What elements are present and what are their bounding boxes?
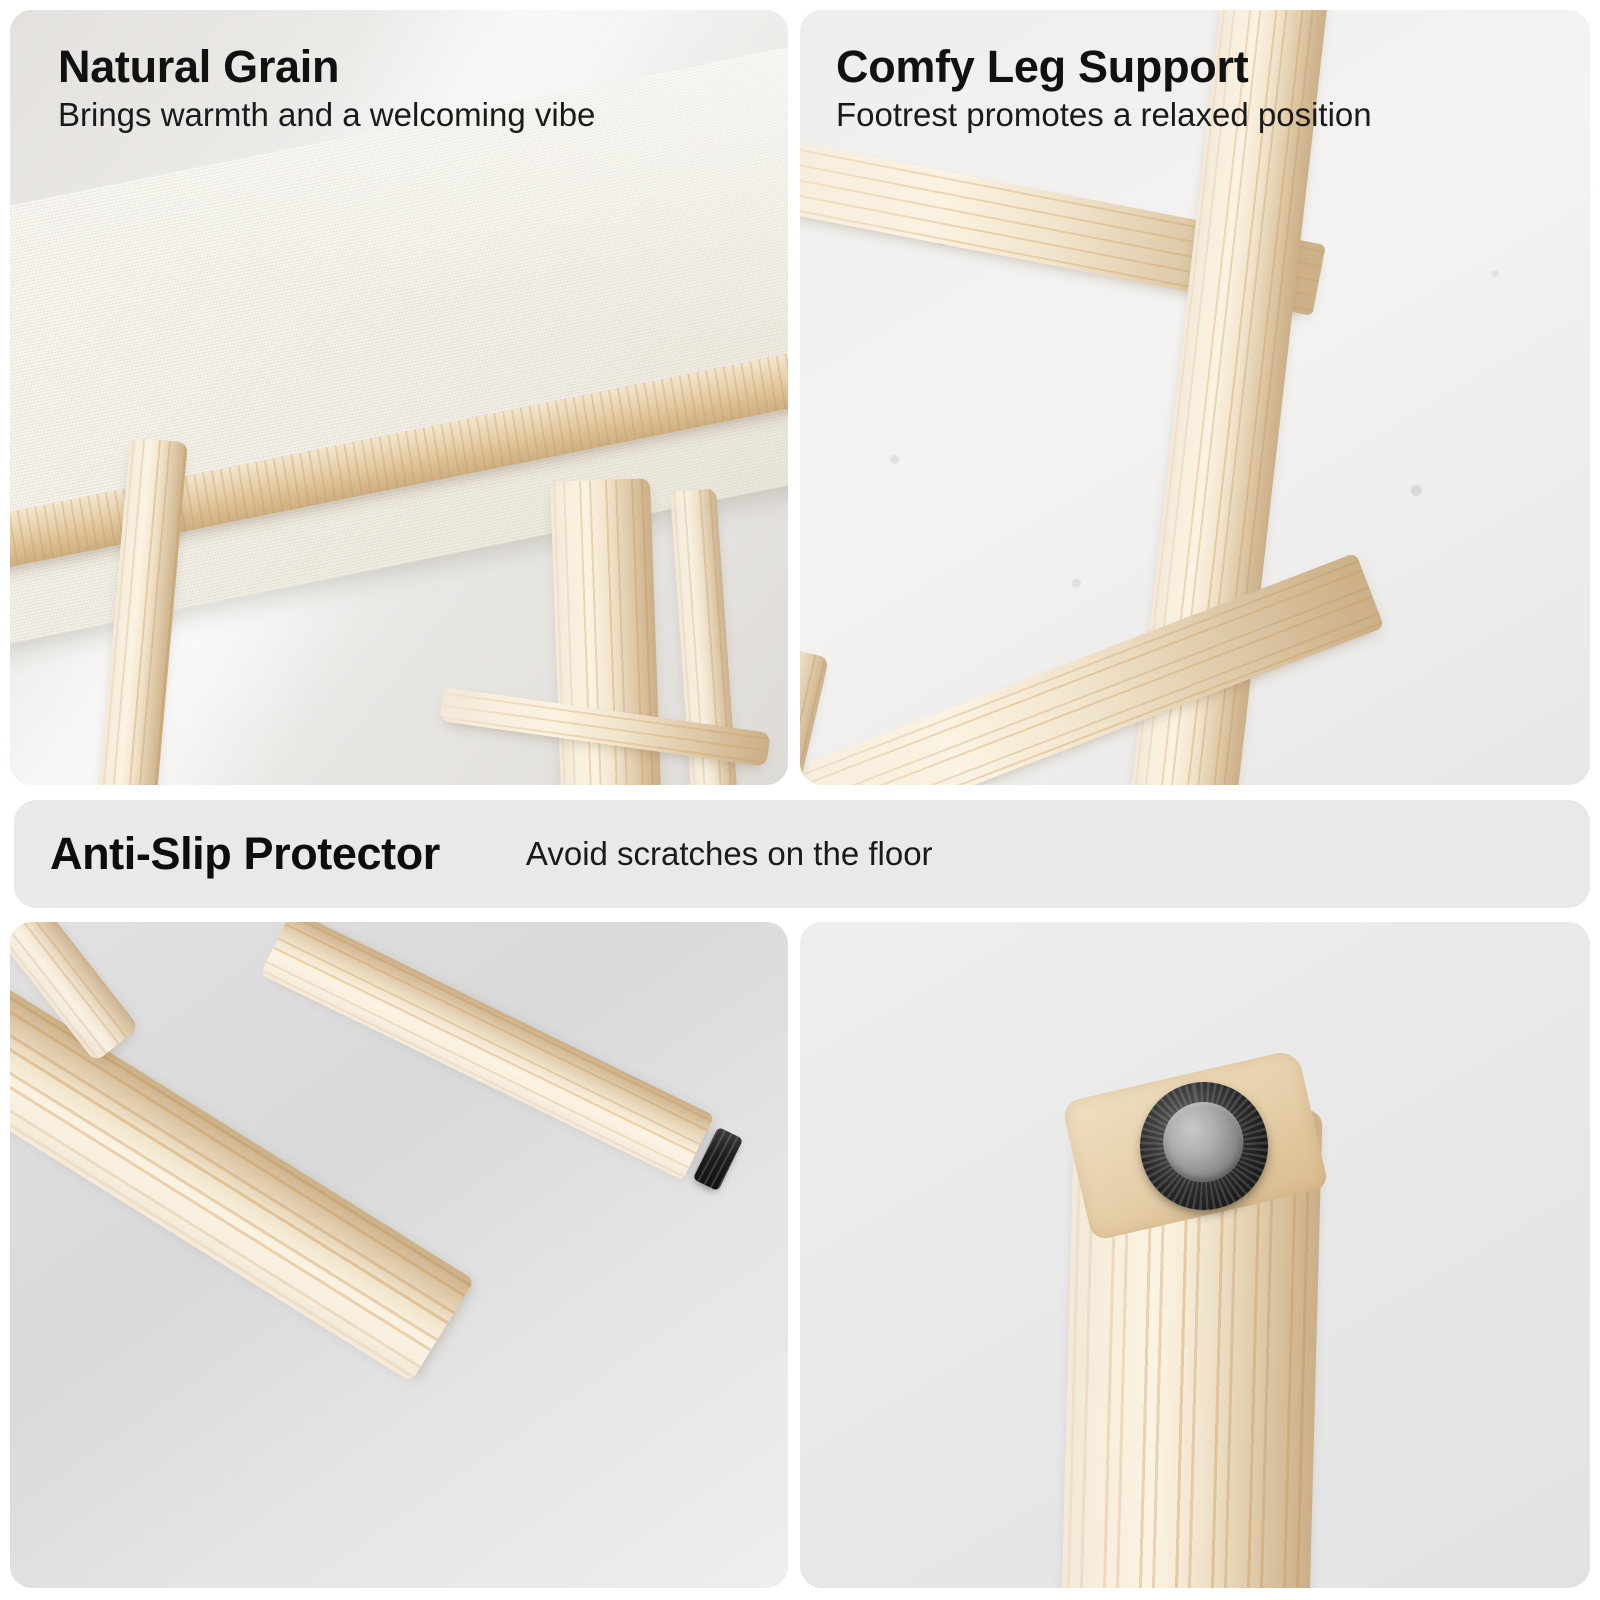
leg-support-photo (800, 10, 1590, 785)
panel-protector-cap[interactable] (800, 922, 1590, 1588)
panel-protector-legs[interactable] (10, 922, 788, 1588)
protector-cap-metal-center (1157, 1096, 1249, 1188)
anti-slip-subtitle: Avoid scratches on the floor (526, 835, 933, 873)
panel-leg-support[interactable]: Comfy Leg Support Footrest promotes a re… (800, 10, 1590, 785)
anti-slip-title: Anti-Slip Protector (50, 828, 440, 880)
protector-cap-photo (800, 922, 1590, 1588)
banner-anti-slip-protector[interactable]: Anti-Slip Protector Avoid scratches on t… (14, 800, 1590, 908)
panel-natural-grain[interactable]: Natural Grain Brings warmth and a welcom… (10, 10, 788, 785)
protector-legs-photo (10, 922, 788, 1588)
natural-grain-photo (10, 10, 788, 785)
infographic-board: Natural Grain Brings warmth and a welcom… (0, 0, 1600, 1600)
